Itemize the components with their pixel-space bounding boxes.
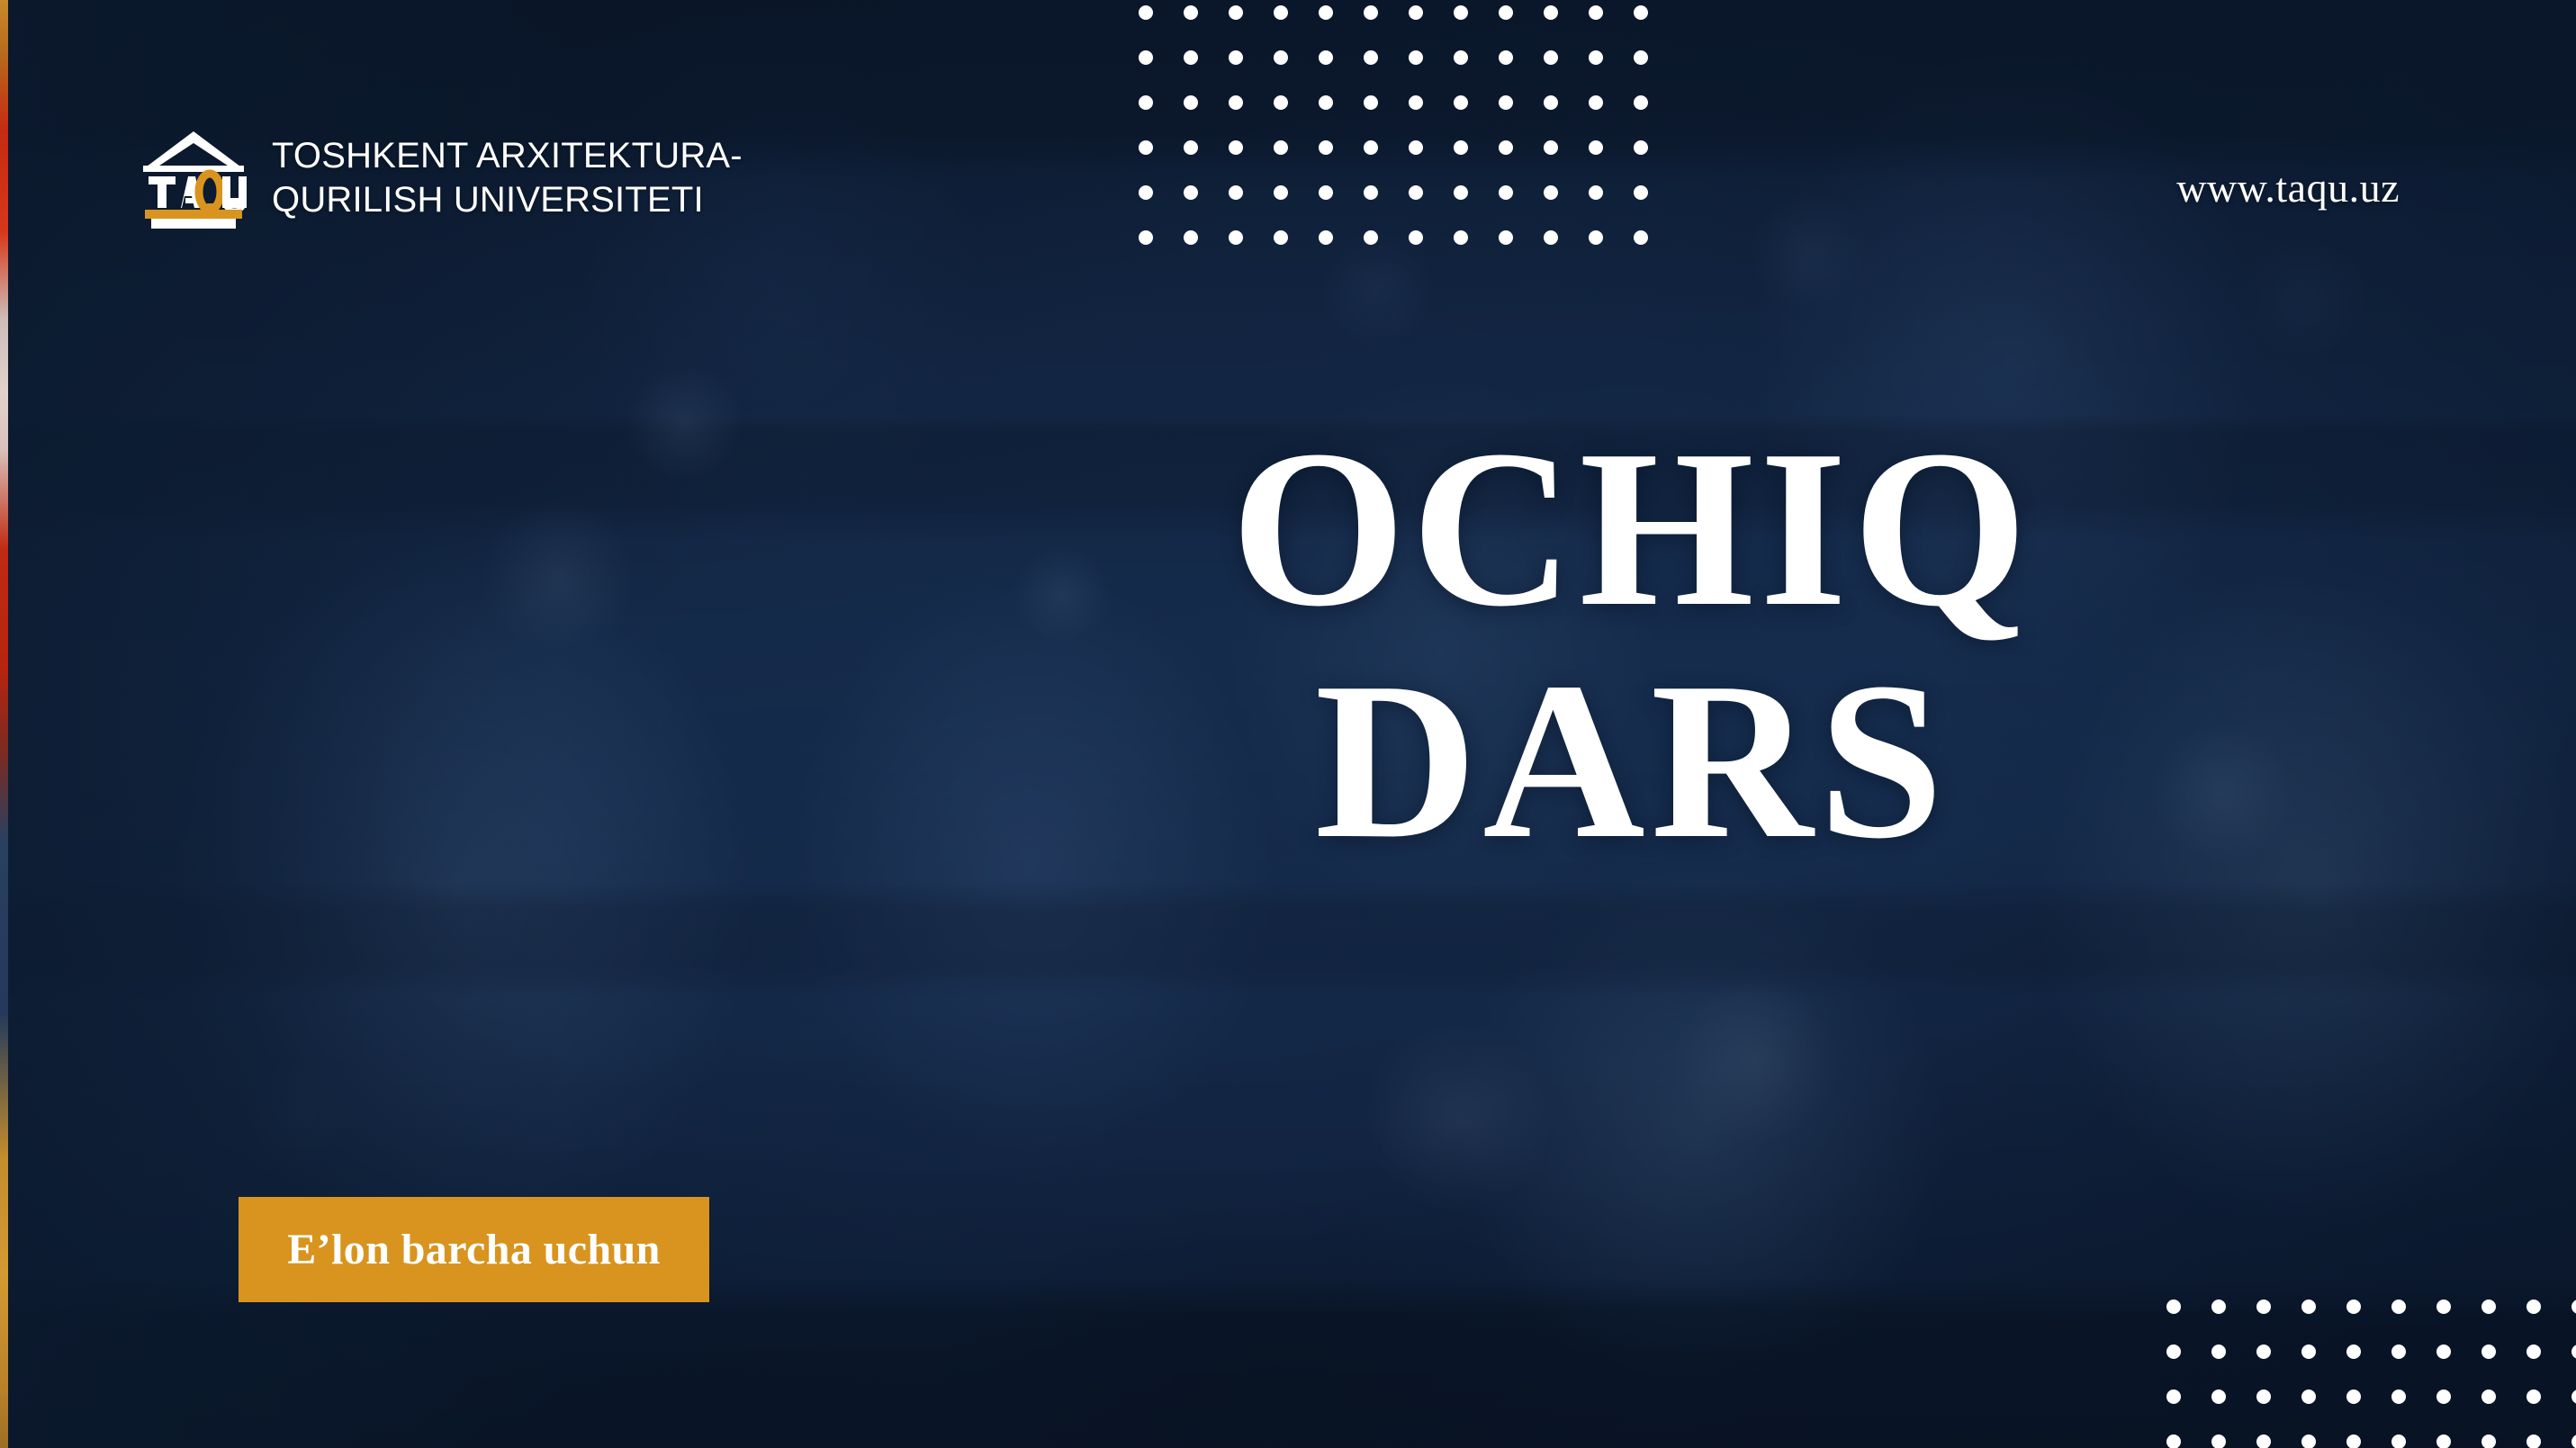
left-edge-photo-strip	[0, 0, 8, 1448]
website-url[interactable]: www.taqu.uz	[2176, 164, 2400, 211]
banner-canvas: TOSHKENT ARXITEKTURA- QURILISH UNIVERSIT…	[0, 0, 2576, 1448]
headline-line-1: OCHIQ	[1128, 421, 2136, 637]
university-building-logo-icon	[140, 126, 247, 230]
brand-name: TOSHKENT ARXITEKTURA- QURILISH UNIVERSIT…	[272, 134, 743, 222]
brand-lockup[interactable]: TOSHKENT ARXITEKTURA- QURILISH UNIVERSIT…	[140, 126, 743, 230]
headline-line-2: DARS	[1128, 653, 2136, 869]
announcement-cta-label: E’lon barcha uchun	[287, 1225, 660, 1274]
page-title: OCHIQ DARS	[1128, 421, 2136, 869]
announcement-cta-button[interactable]: E’lon barcha uchun	[239, 1197, 709, 1302]
